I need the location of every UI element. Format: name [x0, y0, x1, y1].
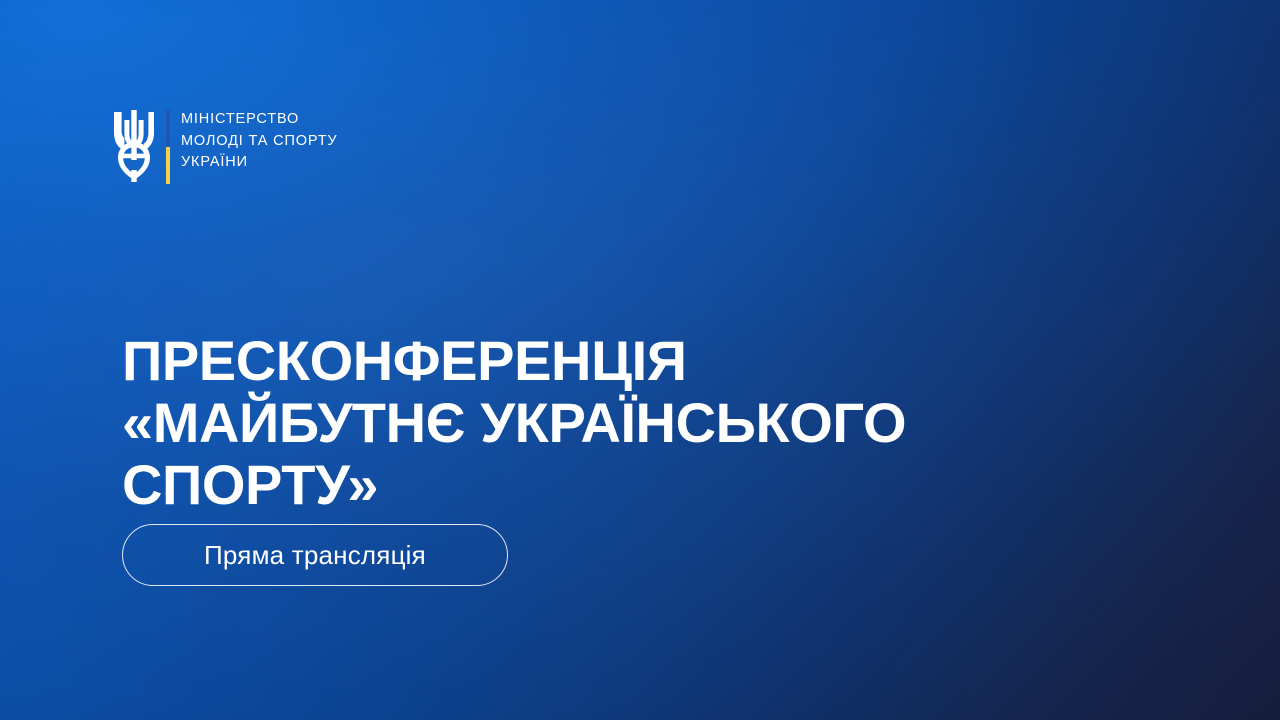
ukrainian-flag-divider — [166, 110, 170, 184]
ministry-name-text: МІНІСТЕРСТВО МОЛОДІ ТА СПОРТУ УКРАЇНИ — [181, 109, 337, 174]
page-title-line-3: СПОРТУ» — [122, 454, 1162, 516]
ukrainian-trident-icon — [112, 108, 156, 184]
page-title-line-1: ПРЕСКОНФЕРЕНЦІЯ — [122, 330, 1162, 392]
ministry-name-line-1: МІНІСТЕРСТВО — [181, 109, 337, 131]
ministry-name-line-2: МОЛОДІ ТА СПОРТУ — [181, 131, 337, 153]
ministry-name-line-3: УКРАЇНИ — [181, 152, 337, 174]
live-broadcast-badge[interactable]: Пряма трансляція — [122, 524, 508, 586]
ministry-logo: МІНІСТЕРСТВО МОЛОДІ ТА СПОРТУ УКРАЇНИ — [112, 108, 337, 192]
page-title-line-2: «МАЙБУТНЄ УКРАЇНСЬКОГО — [122, 392, 1162, 454]
live-broadcast-badge-label: Пряма трансляція — [204, 542, 426, 568]
presentation-slide: МІНІСТЕРСТВО МОЛОДІ ТА СПОРТУ УКРАЇНИ ПР… — [0, 0, 1280, 720]
page-title: ПРЕСКОНФЕРЕНЦІЯ «МАЙБУТНЄ УКРАЇНСЬКОГО С… — [122, 330, 1162, 516]
